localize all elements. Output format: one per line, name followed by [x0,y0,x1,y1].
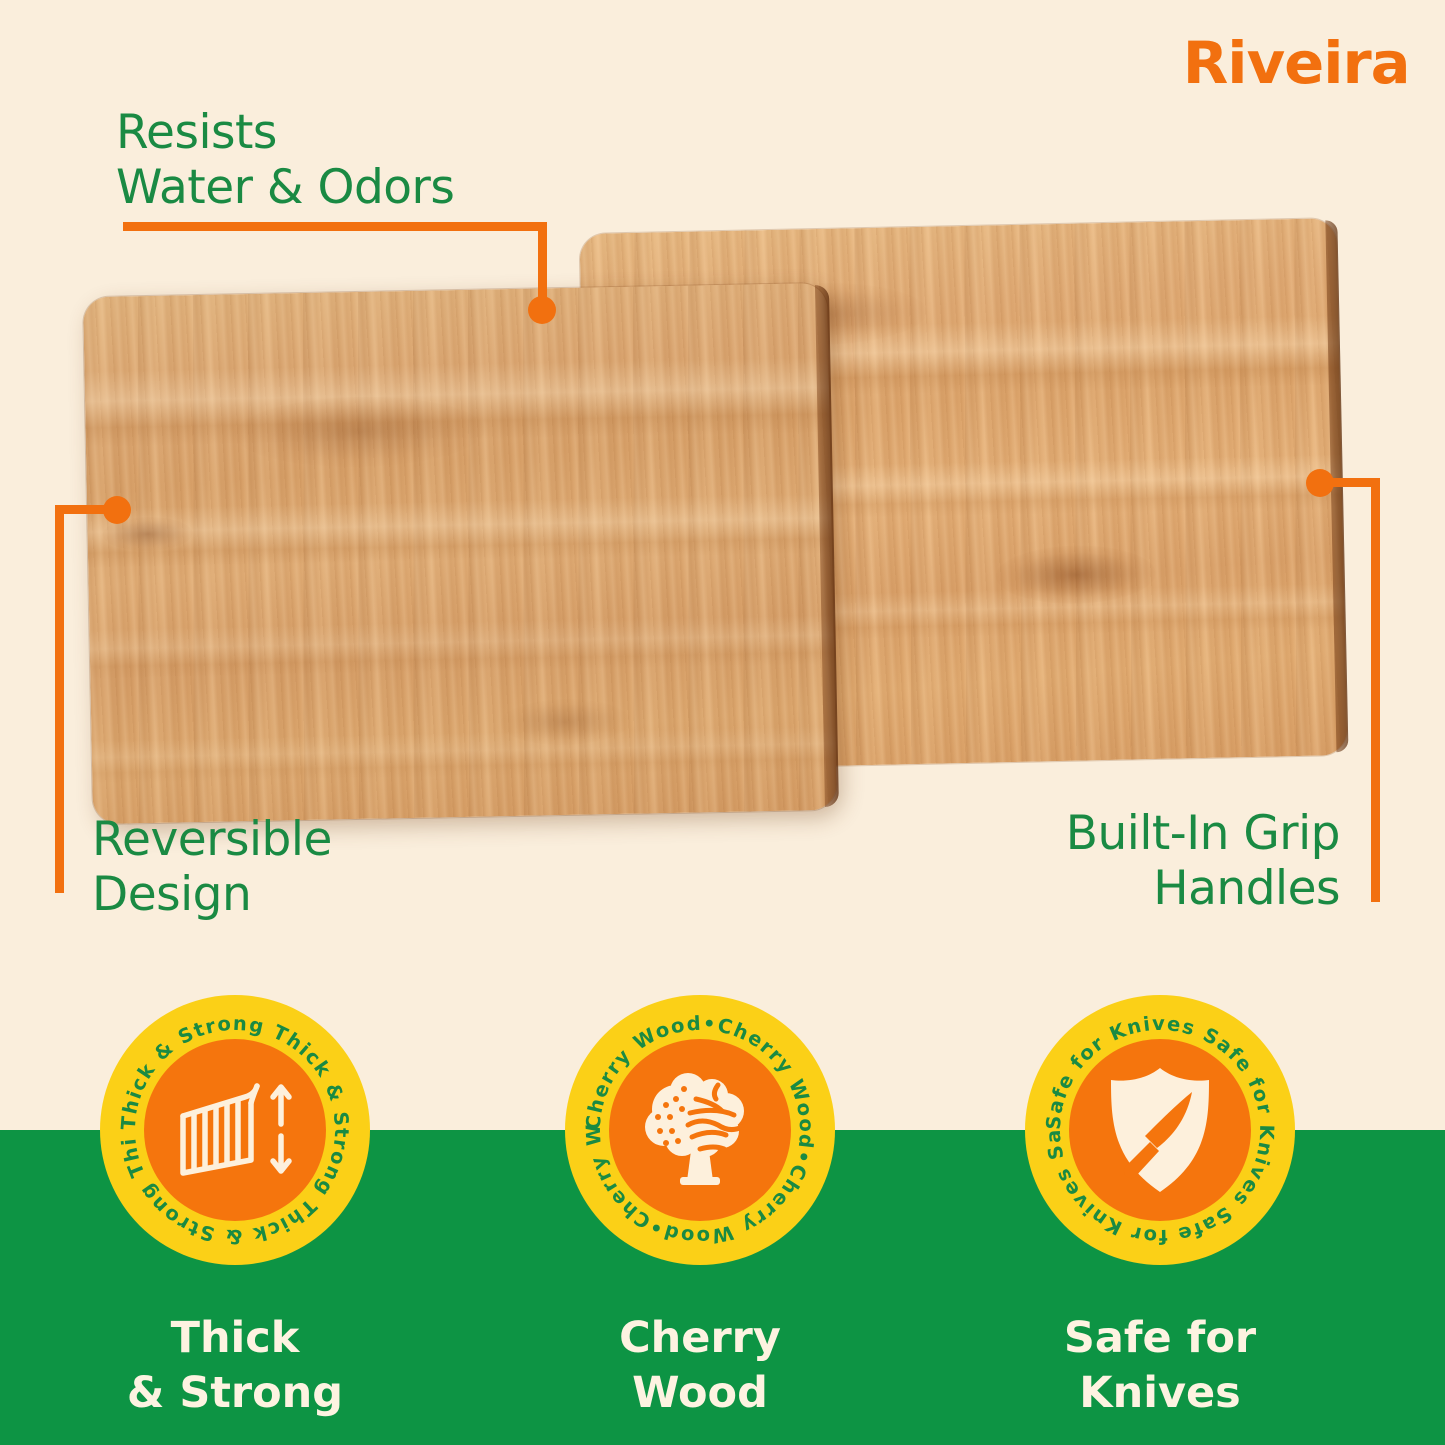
feature-label-cherry-wood: Cherry Wood [540,1311,860,1421]
feature-label-safe-for-knives: Safe for Knives [1000,1311,1320,1421]
connector-dot-top [528,296,556,324]
feature-label-thick-strong: Thick & Strong [75,1311,395,1421]
feature-column-cherry-wood: Cherry Wood•Cherry Wood•Cherry Wood•Cher… [540,995,860,1421]
connector-line-left-horizontal [55,505,117,514]
feature-column-safe-for-knives: Safe for Knives Safe for Knives Safe for… [1000,995,1320,1421]
tree-icon [609,1039,791,1221]
cutting-board-front [83,283,837,824]
brand-logo: Riveira [1182,34,1409,92]
board-thickness-icon [144,1039,326,1221]
badge-cherry-wood: Cherry Wood•Cherry Wood•Cherry Wood•Cher… [565,995,835,1265]
connector-line-left-vertical [55,505,64,893]
badge-thick-strong: Thick & Strong Thick & Strong Thick & St… [100,995,370,1265]
connector-line-top-horizontal [123,222,547,231]
callout-built-in-grip-handles: Built-In Grip Handles [1066,806,1340,917]
callout-resists-water-odors: Resists Water & Odors [116,105,454,216]
infographic-canvas: Riveira Resists Water & Odors Reversible… [0,0,1445,1445]
callout-reversible-design: Reversible Design [92,812,332,923]
feature-column-thick-strong: Thick & Strong Thick & Strong Thick & St… [75,995,395,1421]
shield-knife-icon [1069,1039,1251,1221]
connector-line-right-vertical [1371,478,1380,902]
badge-safe-for-knives: Safe for Knives Safe for Knives Safe for… [1025,995,1295,1265]
